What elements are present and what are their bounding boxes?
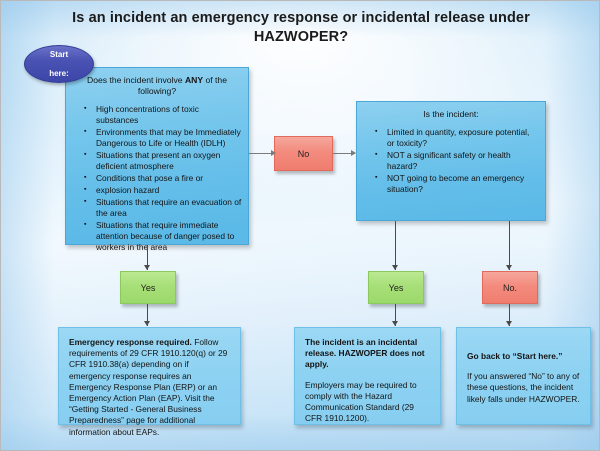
outcome-incidental-body: Employers may be required to comply with… — [305, 380, 430, 425]
decision1-heading-before: Does the incident involve — [87, 75, 185, 85]
connector-decision2-to-yes — [395, 221, 396, 270]
outcome-emergency-lead: Emergency response required. — [69, 337, 192, 347]
list-item: Situations that require immediate attent… — [84, 220, 242, 253]
answer-yes-label: Yes — [389, 283, 404, 293]
decision2-bullet-list: Limited in quantity, exposure potential,… — [357, 127, 545, 195]
decision2-heading: Is the incident: — [357, 102, 545, 120]
arrow-down-icon — [392, 265, 398, 270]
outcome-restart-text: Go back to “Start here.” If you answered… — [457, 328, 590, 413]
list-item: Conditions that pose a fire or — [84, 173, 242, 184]
decision-box-is-the-incident: Is the incident: Limited in quantity, ex… — [356, 101, 546, 221]
arrow-right-icon — [271, 150, 276, 156]
arrow-down-icon — [506, 265, 512, 270]
start-here-node: Starthere: — [24, 45, 94, 83]
arrow-down-icon — [144, 321, 150, 326]
decision-box-any-conditions: Does the incident involve ANY of the fol… — [65, 67, 249, 245]
outcome-emergency-body: Follow requirements of 29 CFR 1910.120(q… — [69, 337, 227, 437]
answer-no-label: No — [298, 149, 310, 159]
list-item: explosion hazard — [84, 185, 242, 196]
outcome-box-go-back-to-start: Go back to “Start here.” If you answered… — [456, 327, 591, 425]
outcome-incidental-text: The incident is an incidental release. H… — [295, 328, 440, 432]
list-item: Situations that require an evacuation of… — [84, 197, 242, 219]
arrow-down-icon — [144, 265, 150, 270]
outcome-restart-body: If you answered “No” to any of these que… — [467, 371, 580, 405]
outcome-incidental-lead-paragraph: The incident is an incidental release. H… — [305, 337, 430, 371]
list-item: NOT going to become an emergency situati… — [375, 173, 539, 195]
list-item: High concentrations of toxic substances — [84, 104, 242, 126]
outcome-box-incidental-release: The incident is an incidental release. H… — [294, 327, 441, 425]
arrow-down-icon — [506, 321, 512, 326]
start-here-line1: Start — [49, 50, 69, 60]
list-item: Limited in quantity, exposure potential,… — [375, 127, 539, 149]
arrow-down-icon — [392, 321, 398, 326]
answer-yes-decision2: Yes — [368, 271, 424, 304]
outcome-incidental-lead: The incident is an incidental release. H… — [305, 337, 425, 369]
page-title: Is an incident an emergency response or … — [61, 9, 541, 47]
list-item: Environments that may be Immediately Dan… — [84, 127, 242, 149]
start-here-line2: here: — [49, 69, 69, 79]
outcome-restart-lead: Go back to “Start here.” — [467, 351, 562, 361]
outcome-restart-lead-paragraph: Go back to “Start here.” — [467, 351, 580, 362]
answer-no-decision1: No — [274, 136, 333, 171]
answer-no-label: No. — [503, 283, 517, 293]
answer-no-decision2: No. — [482, 271, 538, 304]
decision1-heading: Does the incident involve ANY of the fol… — [66, 68, 248, 97]
decision1-bullet-list: High concentrations of toxic substances … — [66, 104, 248, 253]
answer-yes-label: Yes — [141, 283, 156, 293]
outcome-box-emergency-response: Emergency response required. Follow requ… — [58, 327, 241, 425]
flowchart-canvas: Is an incident an emergency response or … — [0, 0, 600, 451]
outcome-emergency-text: Emergency response required. Follow requ… — [59, 328, 240, 446]
arrow-right-icon — [351, 150, 356, 156]
list-item: Situations that present an oxygen defici… — [84, 150, 242, 172]
decision1-heading-strong: ANY — [185, 75, 203, 85]
list-item: NOT a significant safety or health hazar… — [375, 150, 539, 172]
answer-yes-decision1: Yes — [120, 271, 176, 304]
outcome-emergency-paragraph: Emergency response required. Follow requ… — [69, 337, 230, 438]
start-here-label: Starthere: — [49, 50, 69, 79]
connector-decision2-to-no — [509, 221, 510, 270]
